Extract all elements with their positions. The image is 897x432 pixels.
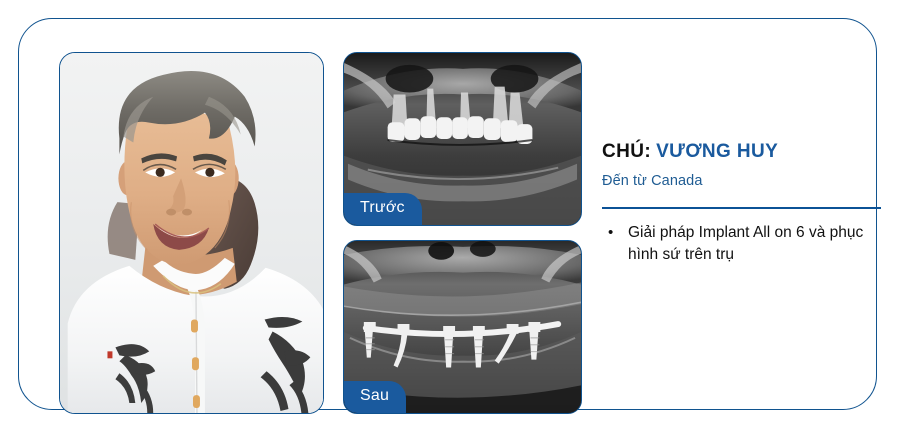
bullet-marker-icon: • xyxy=(608,222,613,243)
testimonial-card-stage: Trước xyxy=(0,0,897,432)
treatment-list: • Giải pháp Implant All on 6 và phục hìn… xyxy=(602,222,884,266)
patient-title: CHÚ:VƯƠNG HUY xyxy=(602,141,884,163)
treatment-text: Giải pháp Implant All on 6 và phục hình … xyxy=(628,224,863,263)
list-item: • Giải pháp Implant All on 6 và phục hìn… xyxy=(602,222,884,266)
xray-badge-after: Sau xyxy=(344,381,406,413)
xray-panel-before: Trước xyxy=(343,52,582,226)
patient-photo xyxy=(60,53,323,413)
patient-photo-frame xyxy=(59,52,324,414)
xray-panel-after: Sau xyxy=(343,240,582,414)
xray-badge-before: Trước xyxy=(344,193,422,225)
patient-info: CHÚ:VƯƠNG HUY Đến từ Canada • Giải pháp … xyxy=(602,141,884,282)
patient-name: VƯƠNG HUY xyxy=(656,141,778,162)
patient-case-card: Trước xyxy=(18,18,877,410)
patient-title-prefix: CHÚ: xyxy=(602,141,651,162)
info-divider xyxy=(602,207,881,209)
patient-origin: Đến từ Canada xyxy=(602,173,884,189)
